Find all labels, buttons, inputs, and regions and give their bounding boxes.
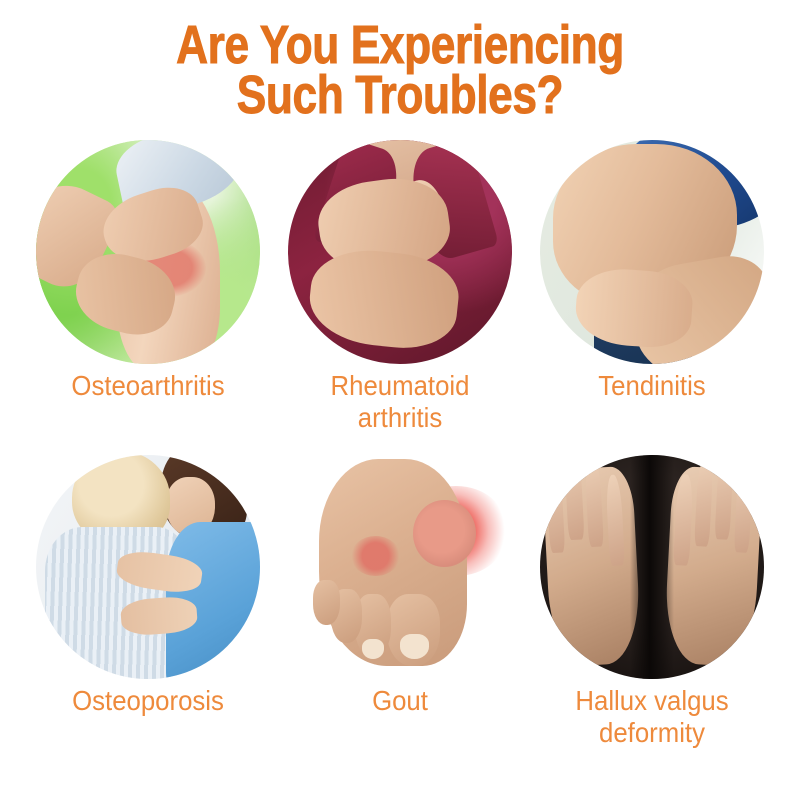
condition-card-osteoporosis[interactable]: Osteoporosis: [22, 455, 274, 770]
condition-label-osteoporosis: Osteoporosis: [32, 685, 264, 717]
page-title-line-2: Such Troubles?: [72, 70, 728, 120]
back-examination-photo: [36, 455, 260, 679]
condition-grid: Osteoarthritis Rheumatoid arthritis: [22, 140, 778, 770]
rheumatoid-hands-photo: [288, 140, 512, 364]
condition-label-gout: Gout: [284, 685, 516, 717]
condition-card-tendinitis[interactable]: Tendinitis: [526, 140, 778, 455]
elbow-pain-photo: [540, 140, 764, 364]
knee-pain-photo: [36, 140, 260, 364]
condition-card-rheumatoid-arthritis[interactable]: Rheumatoid arthritis: [274, 140, 526, 455]
page-title: Are You Experiencing Such Troubles?: [0, 20, 800, 120]
condition-card-gout[interactable]: Gout: [274, 455, 526, 770]
condition-label-hallux-valgus-deformity: Hallux valgus deformity: [536, 685, 768, 749]
gout-foot-photo: [288, 455, 512, 679]
condition-label-osteoarthritis: Osteoarthritis: [32, 370, 264, 402]
condition-label-tendinitis: Tendinitis: [536, 370, 768, 402]
page-title-line-1: Are You Experiencing: [72, 20, 728, 70]
condition-label-rheumatoid-arthritis: Rheumatoid arthritis: [284, 370, 516, 434]
deformed-hands-photo: [540, 455, 764, 679]
condition-card-hallux-valgus-deformity[interactable]: Hallux valgus deformity: [526, 455, 778, 770]
condition-card-osteoarthritis[interactable]: Osteoarthritis: [22, 140, 274, 455]
